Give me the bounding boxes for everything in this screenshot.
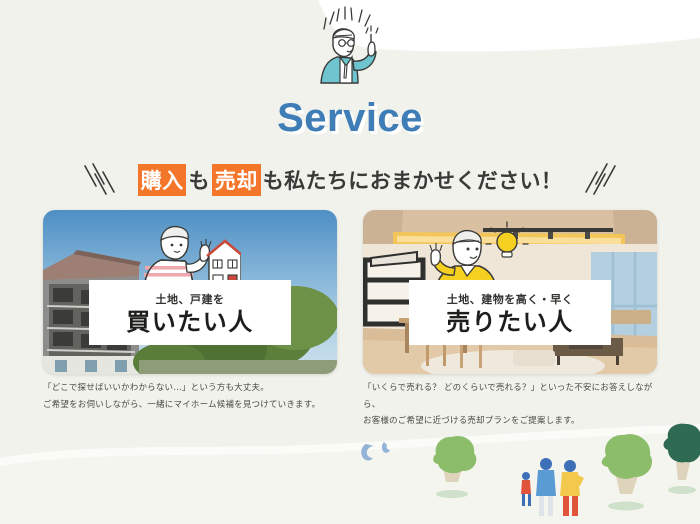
caption-sell-line1: 「いくらで売れる？ どのくらいで売れる？」といった不安にお答えしながら、 <box>363 380 657 413</box>
page-root: Service 購入 も 売却 も私たちにおまかせください！ <box>0 0 700 524</box>
card-sublabel-sell: 土地、建物を高く・早く <box>447 291 574 307</box>
card-mainlabel-buy: 買いたい人 <box>126 310 254 334</box>
headline-part-3: も私たちにおまかせください！ <box>262 165 564 195</box>
diagonal-slashes-left-icon <box>79 160 125 200</box>
headline-part-2: 売却 <box>212 164 261 196</box>
card-label-sell: 土地、建物を高く・早く 売りたい人 <box>409 280 611 345</box>
caption-buy-line2: ご希望をお伺いしながら、一緒にマイホーム候補を見つけていきます。 <box>43 397 337 414</box>
service-card-sell[interactable]: 土地、建物を高く・早く 売りたい人 <box>363 210 657 374</box>
card-label-buy: 土地、戸建を 買いたい人 <box>89 280 291 345</box>
caption-buy: 「どこで探せばいいかわからない…」という方も大丈夫。 ご希望をお伺いしながら、一… <box>43 380 337 430</box>
service-headline-row: 購入 も 売却 も私たちにおまかせください！ <box>0 160 700 200</box>
quote-mark-icon <box>360 440 400 466</box>
service-cards: 土地、戸建を 買いたい人 <box>43 210 657 374</box>
pointing-businessman-icon <box>300 4 400 88</box>
card-mainlabel-sell: 売りたい人 <box>446 310 574 334</box>
service-section-title: Service <box>0 96 700 141</box>
card-sublabel-buy: 土地、戸建を <box>156 291 225 307</box>
diagonal-slashes-right-icon <box>575 160 621 200</box>
trees-and-family-illustration <box>410 420 700 524</box>
service-card-buy[interactable]: 土地、戸建を 買いたい人 <box>43 210 337 374</box>
headline-part-0: 購入 <box>138 164 187 196</box>
caption-buy-line1: 「どこで探せばいいかわからない…」という方も大丈夫。 <box>43 380 337 397</box>
service-headline: 購入 も 売却 も私たちにおまかせください！ <box>137 164 564 196</box>
headline-part-1: も <box>187 165 210 195</box>
